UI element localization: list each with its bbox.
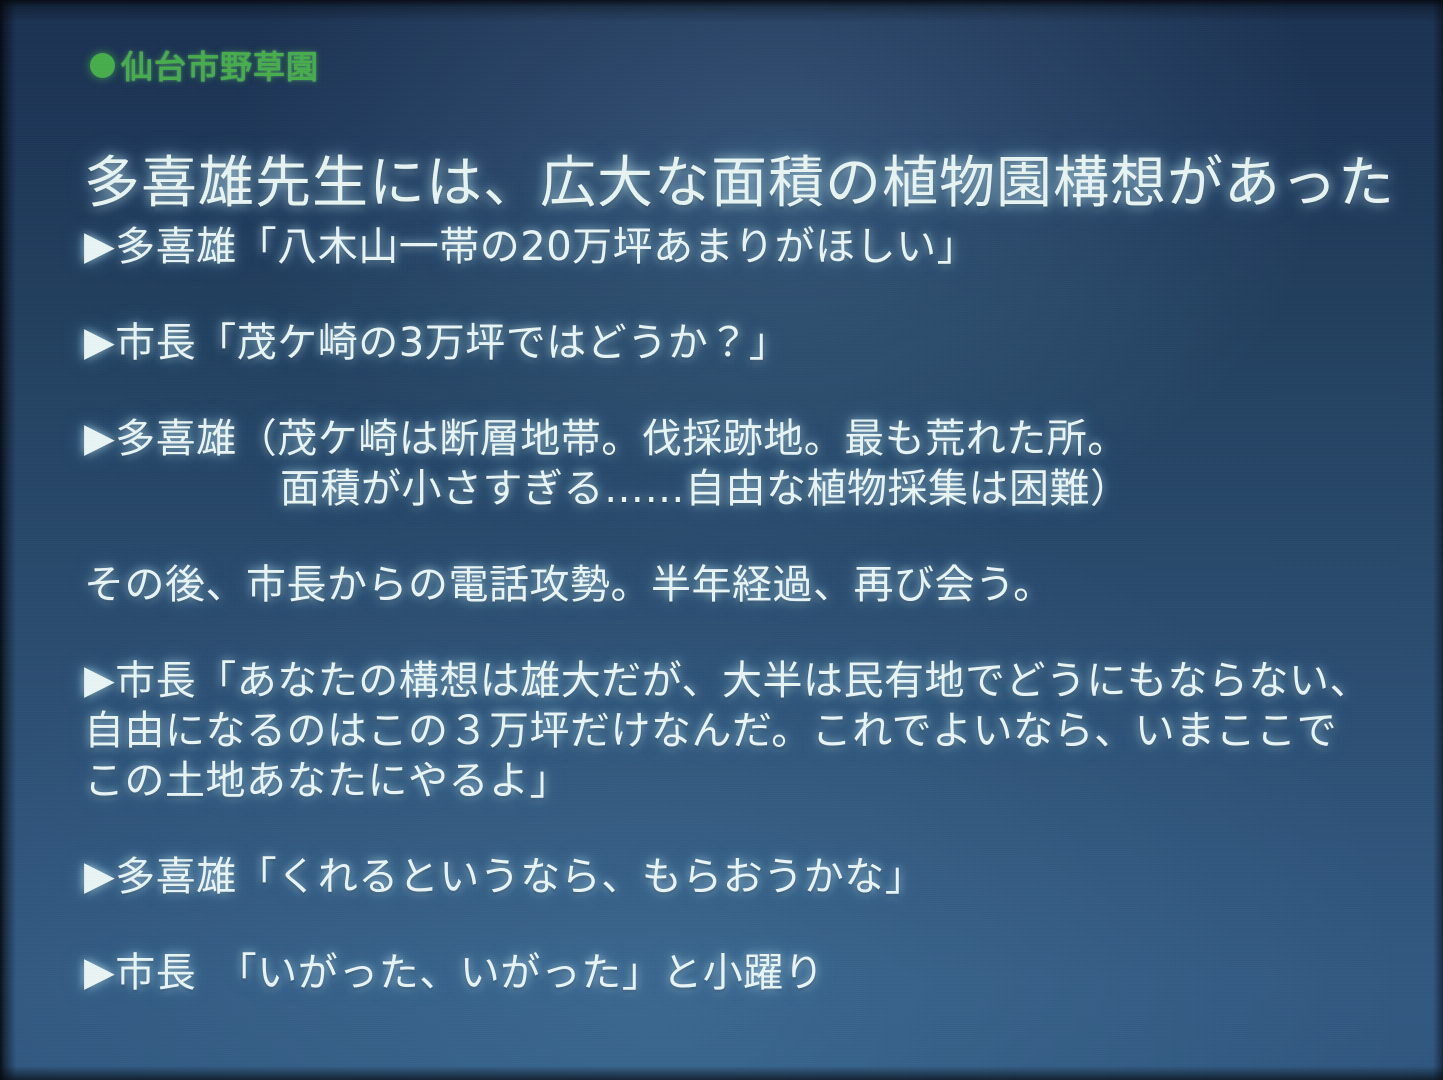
presentation-slide: 仙台市野草園 多喜雄先生には、広大な面積の植物園構想があった ▶多喜雄「八木山一… bbox=[0, 0, 1443, 1080]
triangle-bullet-icon: ▶ bbox=[84, 221, 115, 271]
slide-body: ▶多喜雄「八木山一帯の20万坪あまりがほしい」 ▶市長「茂ケ崎の3万坪ではどうか… bbox=[84, 222, 1409, 998]
bullet-line-3: ▶多喜雄（茂ケ崎は断層地帯。伐採跡地。最も荒れた所。 bbox=[84, 414, 1409, 464]
slide-kicker: 仙台市野草園 bbox=[90, 42, 319, 88]
triangle-bullet-icon: ▶ bbox=[84, 655, 115, 705]
bullet-line-5: ▶市長「あなたの構想は雄大だが、大半は民有地でどうにもならない、 bbox=[84, 656, 1409, 706]
bullet-line-3-text: 多喜雄（茂ケ崎は断層地帯。伐採跡地。最も荒れた所。 bbox=[115, 416, 1128, 462]
spacer bbox=[84, 272, 1409, 318]
spacer bbox=[84, 610, 1409, 656]
bullet-line-3-continued: 面積が小さすぎる……自由な植物採集は困難） bbox=[84, 464, 1409, 514]
bullet-line-1: ▶多喜雄「八木山一帯の20万坪あまりがほしい」 bbox=[84, 222, 1409, 272]
triangle-bullet-icon: ▶ bbox=[84, 851, 115, 901]
slide-title: 多喜雄先生には、広大な面積の植物園構想があった bbox=[84, 138, 1395, 219]
bullet-line-2: ▶市長「茂ケ崎の3万坪ではどうか？」 bbox=[84, 318, 1409, 368]
bullet-line-5-text: 市長「あなたの構想は雄大だが、大半は民有地でどうにもならない、 bbox=[115, 658, 1370, 704]
bullet-line-5-continued-a: 自由になるのはこの３万坪だけなんだ。これでよいなら、いまここで bbox=[84, 706, 1409, 756]
bullet-line-7-text: 市長 「いがった、いがった」と小躍り bbox=[115, 950, 824, 996]
triangle-bullet-icon: ▶ bbox=[84, 947, 115, 997]
triangle-bullet-icon: ▶ bbox=[84, 413, 115, 463]
spacer bbox=[84, 806, 1409, 852]
bullet-line-1-text: 多喜雄「八木山一帯の20万坪あまりがほしい」 bbox=[115, 224, 977, 270]
spacer bbox=[84, 902, 1409, 948]
kicker-label: 仙台市野草園 bbox=[121, 42, 319, 88]
slide-content: 仙台市野草園 多喜雄先生には、広大な面積の植物園構想があった ▶多喜雄「八木山一… bbox=[0, 0, 1443, 1080]
triangle-bullet-icon: ▶ bbox=[84, 317, 115, 367]
bullet-line-2-text: 市長「茂ケ崎の3万坪ではどうか？」 bbox=[115, 320, 789, 366]
spacer bbox=[84, 368, 1409, 414]
bullet-line-5-continued-b: この土地あなたにやるよ」 bbox=[84, 756, 1409, 806]
green-circle-bullet-icon bbox=[90, 53, 115, 78]
bullet-line-6-text: 多喜雄「くれるというなら、もらおうかな」 bbox=[115, 854, 925, 900]
bullet-line-7: ▶市長 「いがった、いがった」と小躍り bbox=[84, 948, 1409, 998]
bullet-line-6: ▶多喜雄「くれるというなら、もらおうかな」 bbox=[84, 852, 1409, 902]
spacer bbox=[84, 514, 1409, 560]
plain-line-4: その後、市長からの電話攻勢。半年経過、再び会う。 bbox=[84, 560, 1409, 610]
